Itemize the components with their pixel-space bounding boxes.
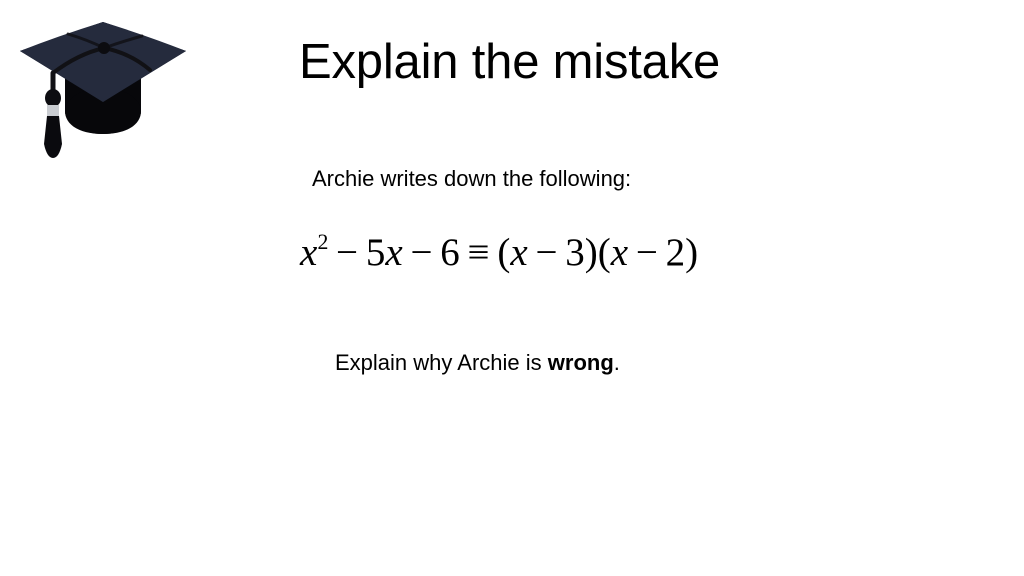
equation-lhs-operator-1: − [336,231,358,274]
equation-lhs-coefficient: 5 [366,231,386,274]
cap-button [98,42,110,54]
closing-emphasis: wrong [548,350,614,375]
closing-text-before: Explain why Archie is [335,350,548,375]
equation-lhs-operator-2: − [410,231,432,274]
equation-rhs-open-paren-2: ( [598,231,611,274]
equation-rhs-operator-2: − [636,231,658,274]
equation-rhs-close-paren-2: ) [685,231,698,274]
math-equation: x2−5x−6≡(x−3)(x−2) [300,233,698,274]
page-title: Explain the mistake [299,36,720,89]
graduation-cap-svg [8,8,198,168]
slide-canvas: Explain the mistake Archie writes down t… [0,0,1024,576]
closing-text-after: . [614,350,620,375]
equation-rhs-constant-1: 3 [565,231,585,274]
equation-lhs-constant: 6 [440,231,460,274]
equation-lhs-variable: x [300,231,317,274]
equation-lhs-exponent: 2 [318,230,329,254]
equation-rhs-operator-1: − [535,231,557,274]
closing-instruction: Explain why Archie is wrong. [335,350,620,376]
equation-relation-symbol: ≡ [468,231,490,274]
prompt-text: Archie writes down the following: [312,166,631,192]
equation-rhs-close-paren-1: ) [585,231,598,274]
mortarboard-board [20,22,186,102]
equation-rhs-variable-1: x [510,231,527,274]
equation-rhs-constant-2: 2 [666,231,686,274]
graduation-cap-icon [8,8,198,168]
equation-lhs-variable-2: x [385,231,402,274]
equation-rhs-open-paren-1: ( [497,231,510,274]
equation-rhs-variable-2: x [611,231,628,274]
tassel-strands [44,116,62,158]
tassel-bead [45,89,61,107]
